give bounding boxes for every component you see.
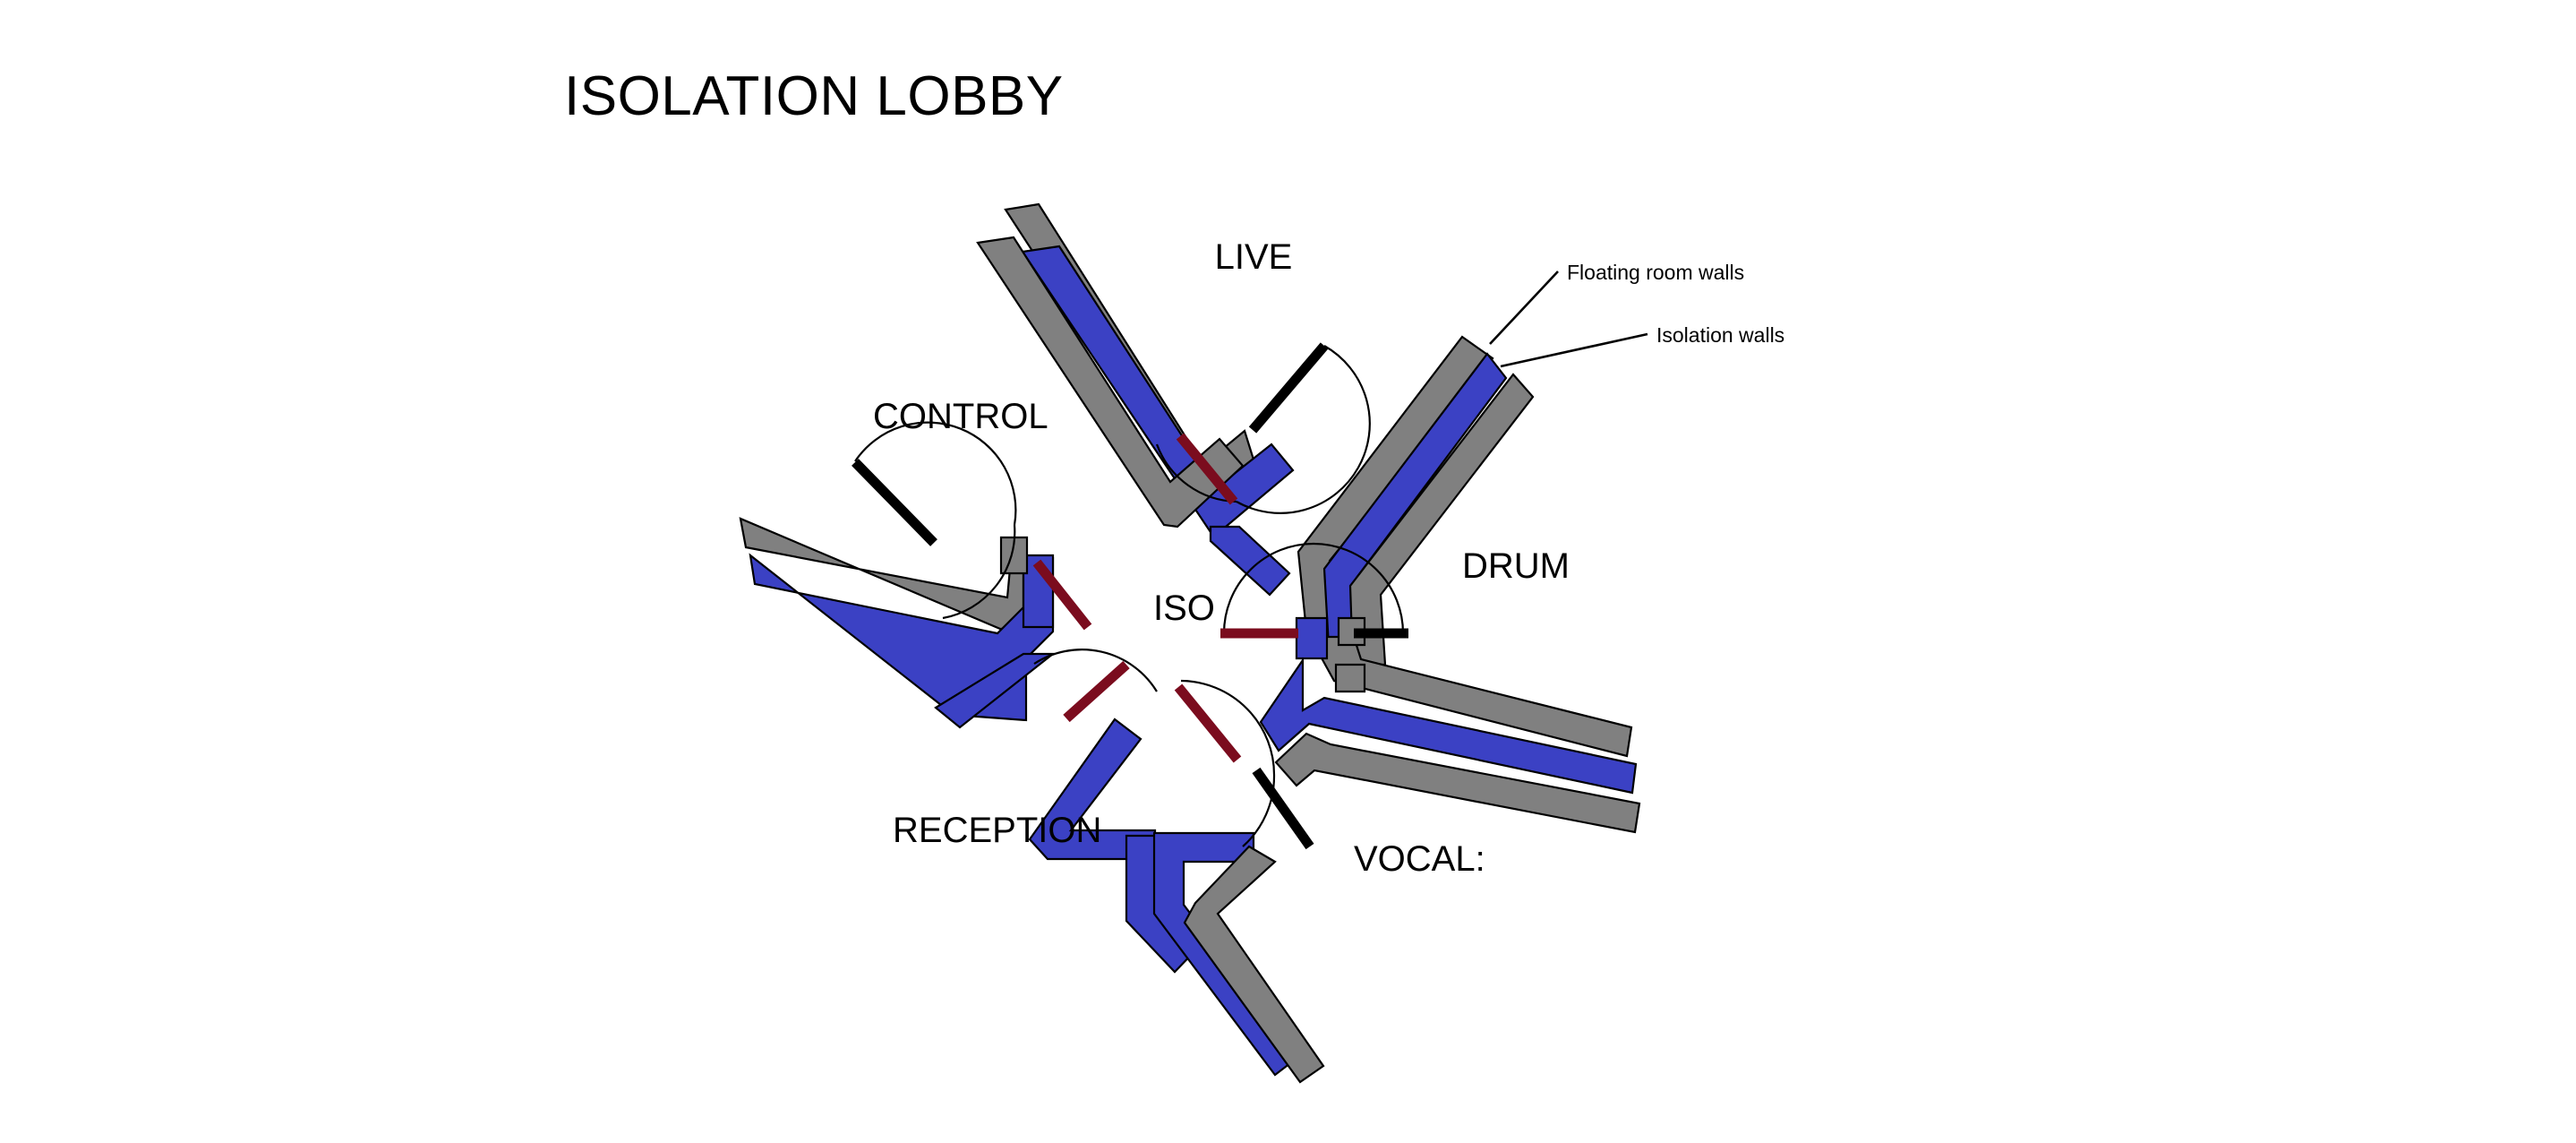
door-leaf-live-black [1253,346,1324,430]
callout-leaders [1490,271,1647,366]
room-label-live: LIVE [1215,237,1293,277]
room-label-reception: RECEPTION [893,811,1101,850]
door-leaf-reception-red [1066,665,1126,718]
callout-floating-room-walls: Floating room walls [1567,261,1744,284]
door-leaf-vocal-red [1178,687,1237,760]
door-arc-vocal [1181,681,1274,776]
room-label-vocal: VOCAL: [1354,839,1485,879]
door-arc-control [855,423,1015,525]
isolation-wall-hub-drum [1297,618,1327,658]
room-label-drum: DRUM [1462,546,1570,586]
callout-isolation-walls: Isolation walls [1656,323,1784,347]
leader-floating-room-walls [1490,271,1558,344]
wing-drum-lower [1261,637,1639,832]
isolation-wall-hub-live [1211,527,1289,595]
floating-room-wall-hub-stub-lower [1336,665,1365,692]
floor-plan-root: ISOLATION LOBBY [0,0,2576,1143]
door-arc-reception [1034,649,1157,692]
callout-labels: Floating room walls Isolation walls [1567,261,1784,347]
wing-drum-upper [1298,337,1533,665]
room-label-control: CONTROL [873,397,1048,436]
door-leaf-control-black [855,462,934,543]
room-label-iso: ISO [1153,589,1215,628]
floor-plan-canvas: Floating room walls Isolation walls LIVE… [0,0,2576,1143]
leader-isolation-walls [1501,334,1647,366]
